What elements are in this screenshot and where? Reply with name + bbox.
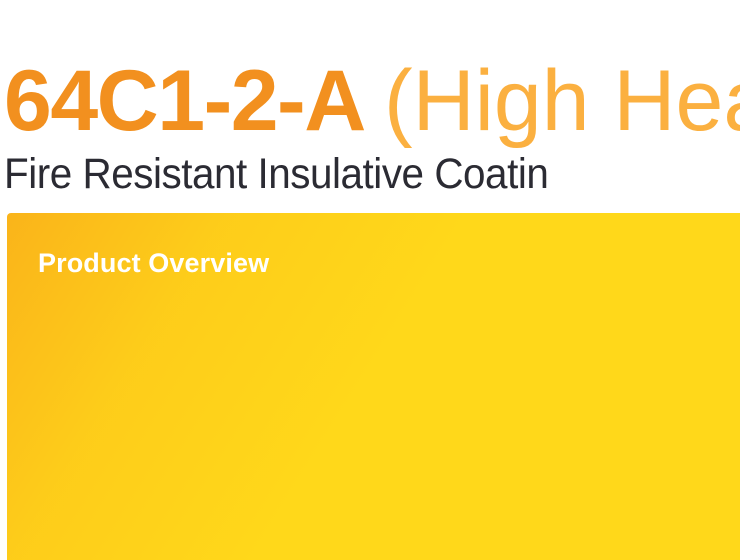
page-subtitle: Fire Resistant Insulative Coatin: [4, 146, 548, 202]
page-title: 64C1-2-A (High Hea: [4, 51, 740, 151]
product-qualifier: (High Hea: [384, 53, 740, 149]
product-overview-panel: Product Overview: [7, 213, 740, 560]
overview-panel-body: [38, 299, 740, 560]
product-datasheet-page: 64C1-2-A (High Hea Fire Resistant Insula…: [0, 0, 740, 560]
overview-panel-header: Product Overview: [38, 246, 740, 280]
overview-panel-heading: Product Overview: [38, 246, 740, 280]
product-code: 64C1-2-A: [4, 53, 362, 149]
